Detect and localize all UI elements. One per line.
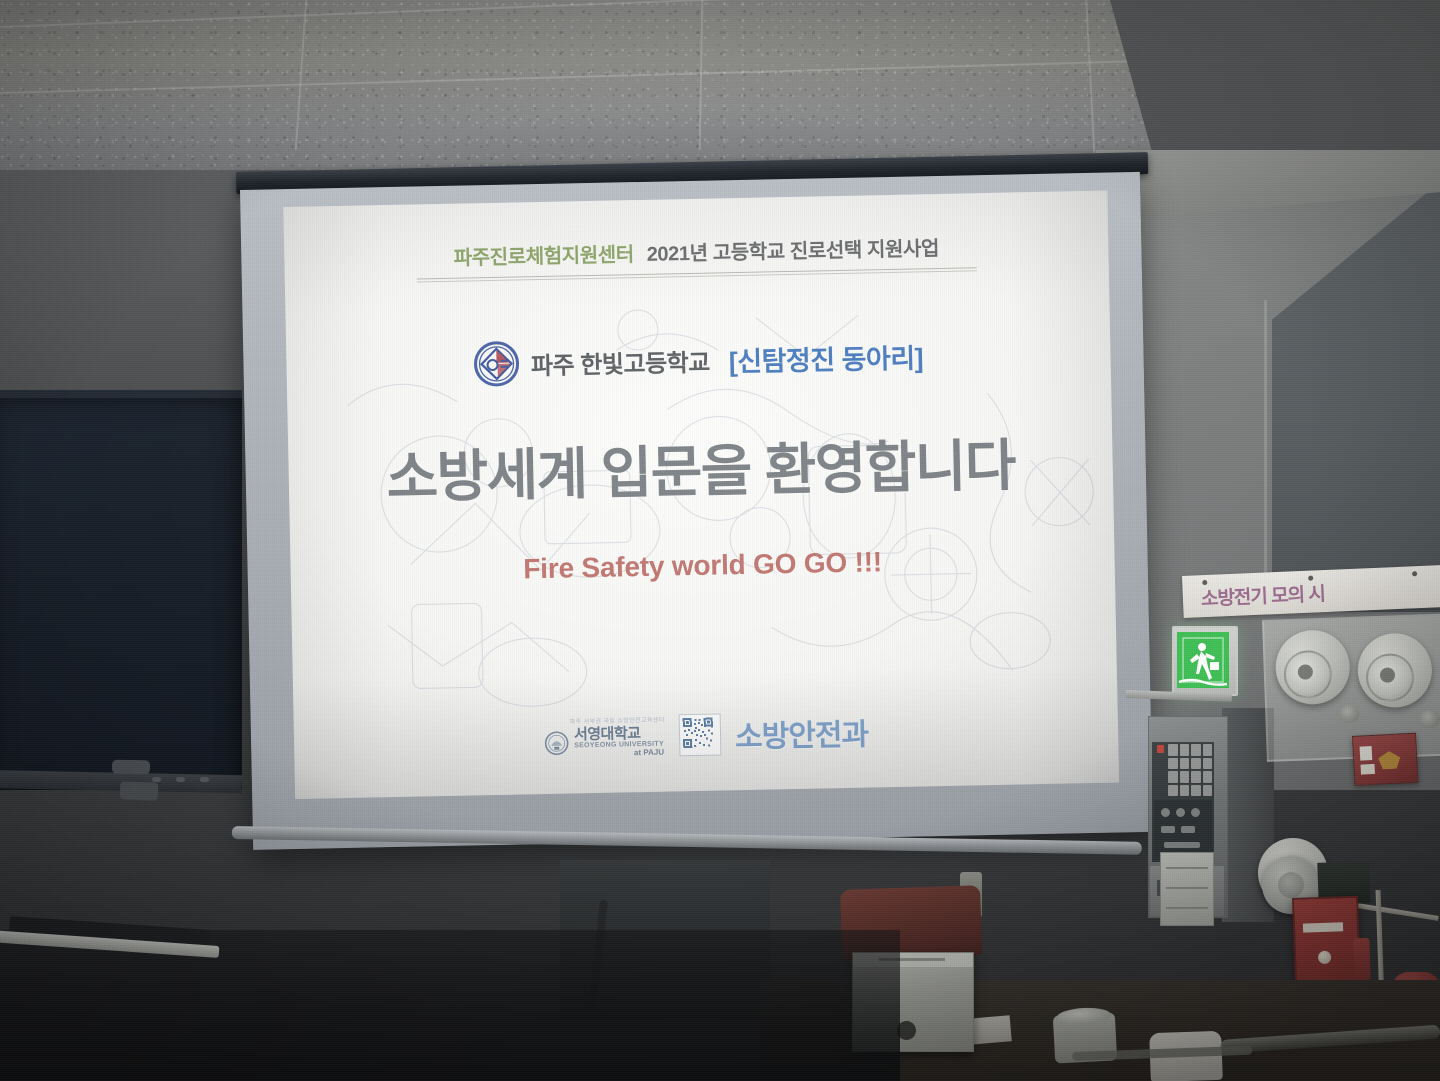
- qr-code-icon[interactable]: [679, 713, 722, 756]
- hanbit-high-school-emblem-icon: [473, 340, 520, 387]
- running-man-icon: [1177, 632, 1229, 688]
- plate-groove: [1166, 887, 1208, 889]
- wall-sign-text: 소방전기 모의 시: [1200, 579, 1325, 611]
- keypad-button[interactable]: [1203, 785, 1213, 797]
- panel-keypad[interactable]: [1168, 744, 1212, 796]
- indicator-lamp: [1161, 808, 1170, 817]
- indicator-lamp: [1181, 826, 1195, 833]
- detector-base: [1419, 710, 1440, 729]
- sign-screw: [1412, 571, 1417, 576]
- projector-screen: 파주진로체험지원센터 2021년 고등학교 진로선택 지원사업: [240, 172, 1153, 850]
- plate-groove: [1166, 907, 1208, 909]
- indicator-bar: [1164, 842, 1200, 848]
- keypad-button[interactable]: [1168, 758, 1178, 770]
- board-ledge-object: [120, 781, 159, 800]
- emergency-exit-sign: [1172, 626, 1238, 696]
- university-logo-row: 서영대학교 SEOYEONG UNIVERSITY at PAJU: [544, 726, 664, 759]
- fire-extinguisher-small: [1353, 938, 1370, 981]
- call-point-marker: [1378, 751, 1401, 770]
- wall-corner-edge: [1264, 300, 1267, 610]
- slide-sub-title: Fire Safety world GO GO !!!: [523, 546, 882, 585]
- slide-footer: 파주 서부권 국립 소방안전교육센터: [294, 704, 1119, 765]
- foreground-shadow: [0, 930, 900, 1081]
- keypad-button[interactable]: [1203, 744, 1213, 756]
- school-identity-row: 파주 한빛고등학교 [신탐정진 동아리]: [473, 332, 923, 387]
- exit-sign-face: [1177, 632, 1229, 688]
- university-text: 서영대학교 SEOYEONG UNIVERSITY at PAJU: [574, 726, 664, 759]
- manual-call-point-red[interactable]: [1352, 733, 1419, 786]
- keypad-button[interactable]: [1191, 744, 1201, 756]
- plate-groove: [1166, 867, 1208, 869]
- keypad-button[interactable]: [1180, 744, 1190, 756]
- support-center-name: 파주진로체험지원센터: [453, 238, 634, 271]
- keypad-button[interactable]: [1191, 771, 1201, 783]
- call-point-label: [1360, 746, 1373, 761]
- cabinet-nameplate: [1303, 922, 1343, 932]
- university-campus: at PAJU: [634, 749, 664, 758]
- indicator-lamp: [1161, 826, 1175, 833]
- keypad-button[interactable]: [1180, 771, 1190, 783]
- detector-base: [1339, 705, 1360, 724]
- chalk-eraser: [112, 760, 150, 775]
- tray-marking: [200, 777, 209, 782]
- keypad-button[interactable]: [1168, 771, 1178, 783]
- keypad-button[interactable]: [1180, 785, 1190, 797]
- keypad-button[interactable]: [1191, 785, 1201, 797]
- alarm-status-led: [1157, 745, 1164, 753]
- panel-indicator-section: [1154, 800, 1212, 858]
- keypad-button[interactable]: [1191, 758, 1201, 770]
- reel-hub: [1278, 872, 1304, 898]
- university-branding: 파주 서부권 국립 소방안전교육센터: [544, 715, 666, 759]
- keypad-button[interactable]: [1168, 744, 1178, 756]
- program-name: 2021년 고등학교 진로선택 지원사업: [646, 232, 939, 267]
- seoyeong-university-emblem-icon: [544, 731, 569, 756]
- slide-main-title: 소방세계 입문을 환영합니다: [386, 421, 1016, 515]
- indicator-lamp: [1176, 808, 1185, 817]
- department-name: 소방안전과: [735, 710, 869, 757]
- keypad-button[interactable]: [1203, 771, 1213, 783]
- tray-marking: [152, 777, 161, 782]
- club-name: [신탐정진 동아리]: [728, 336, 923, 379]
- presentation-slide: 파주진로체험지원센터 2021년 고등학교 진로선택 지원사업: [283, 191, 1119, 799]
- keypad-button[interactable]: [1168, 785, 1178, 797]
- projected-image-area: 파주진로체험지원센터 2021년 고등학교 진로선택 지원사업: [283, 191, 1119, 799]
- keypad-button[interactable]: [1180, 758, 1190, 770]
- school-name: 파주 한빛고등학교: [531, 342, 710, 381]
- center-tagline: 파주 서부권 국립 소방안전교육센터: [570, 715, 665, 726]
- indicator-lamp: [1191, 808, 1200, 817]
- screenshot-root: 파주진로체험지원센터 2021년 고등학교 진로선택 지원사업: [0, 0, 1440, 1081]
- cabinet-knob[interactable]: [1318, 951, 1331, 964]
- classroom-chalkboard: [0, 398, 242, 790]
- wall-terminal-plate: [1160, 852, 1214, 926]
- tray-marking: [176, 777, 185, 782]
- call-point-label: [1361, 764, 1376, 775]
- keypad-button[interactable]: [1203, 758, 1213, 770]
- slide-header: 파주진로체험지원센터 2021년 고등학교 진로선택 지원사업: [453, 232, 939, 271]
